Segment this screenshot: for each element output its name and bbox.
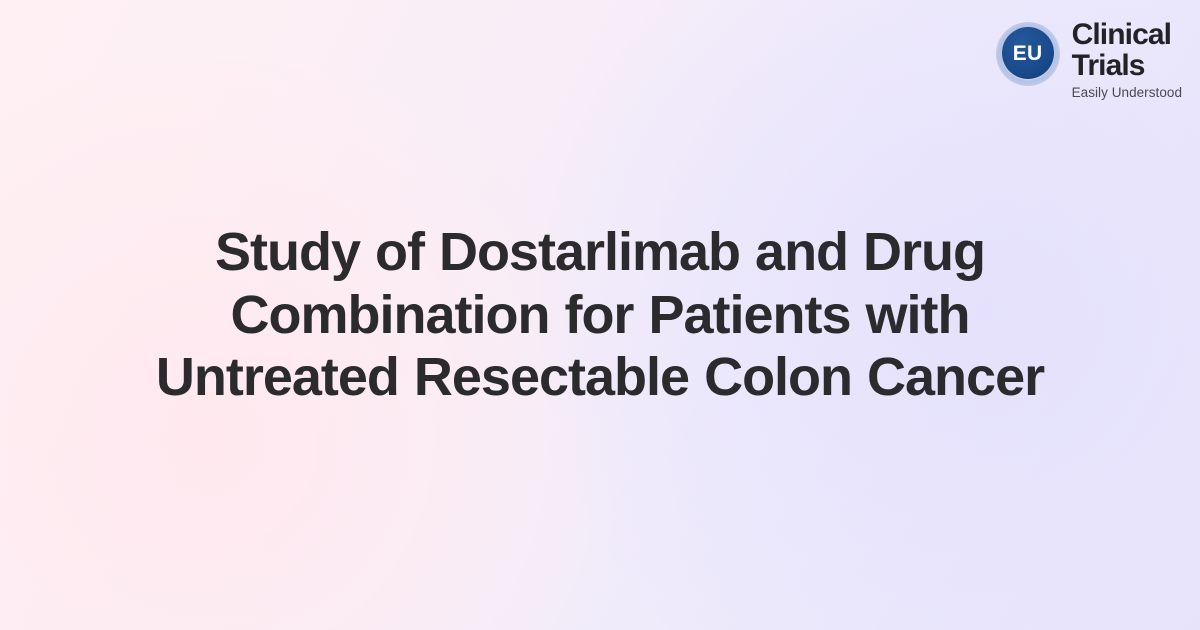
badge-label: EU: [1013, 43, 1043, 64]
brand-wordmark: Clinical Trials: [1072, 20, 1182, 82]
brand-text-block: Clinical Trials Easily Understood: [1072, 18, 1182, 100]
brand-tagline: Easily Understood: [1072, 85, 1182, 100]
page-title-line-2: Combination for Patients with: [90, 284, 1110, 347]
brand-wordmark-line-2: Trials: [1072, 51, 1182, 82]
share-card: EU Clinical Trials Easily Understood Stu…: [0, 0, 1200, 630]
eu-circle-badge-icon: EU: [996, 22, 1060, 86]
badge-disc: EU: [1002, 27, 1054, 79]
page-title-line-3: Untreated Resectable Colon Cancer: [90, 346, 1110, 409]
brand-wordmark-line-1: Clinical: [1072, 20, 1182, 51]
brand-logo[interactable]: EU Clinical Trials Easily Understood: [996, 18, 1182, 100]
page-title-line-1: Study of Dostarlimab and Drug: [90, 221, 1110, 284]
page-title: Study of Dostarlimab and Drug Combinatio…: [90, 221, 1110, 409]
